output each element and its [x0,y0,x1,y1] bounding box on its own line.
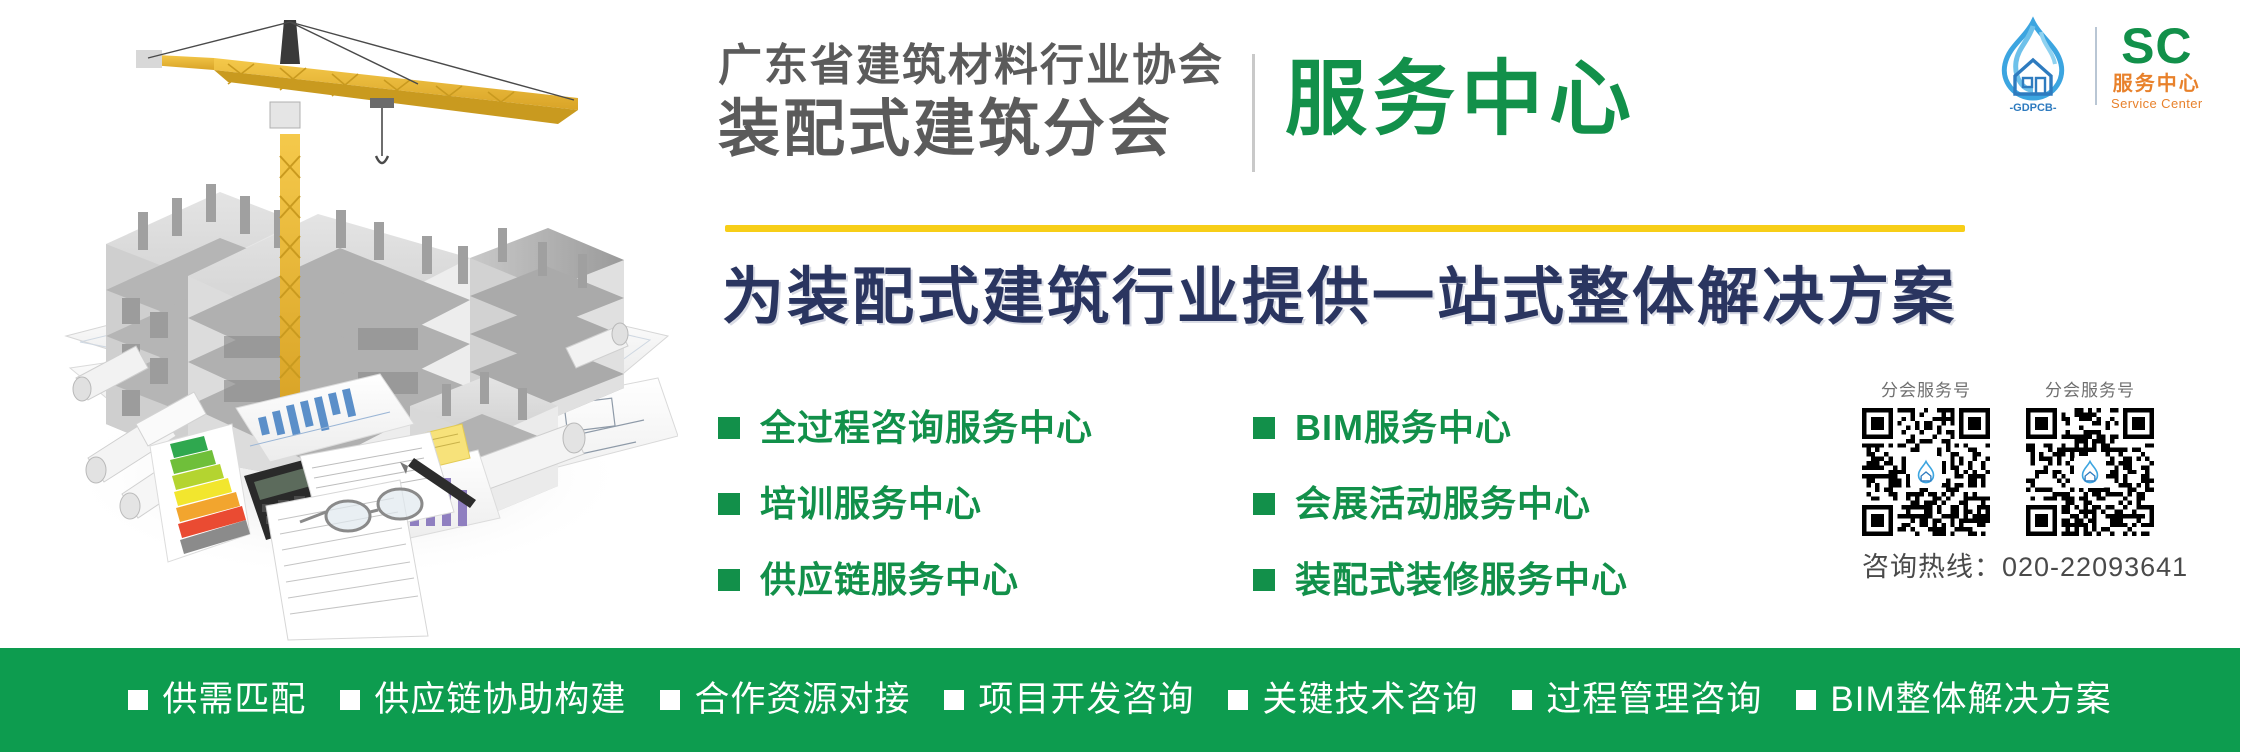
bottom-bar-item[interactable]: 合作资源对接 [660,680,910,720]
service-label: 装配式装修服务中心 [1295,560,1628,600]
square-bullet-icon [1253,569,1275,591]
service-label: 会展活动服务中心 [1295,484,1591,524]
bottom-bar-label: 供应链协助构建 [374,680,626,720]
square-bullet-icon [718,417,740,439]
qr-code-icon[interactable] [2026,408,2154,536]
qr-caption: 分会服务号 [2045,380,2135,402]
bottom-bar-label: 关键技术咨询 [1262,680,1478,720]
bottom-bar-items: 供需匹配 供应链协助构建 合作资源对接 项目开发咨询 关键技术咨询 过程管理咨询 [128,680,2111,720]
square-bullet-icon [944,690,964,710]
association-name: 广东省建筑材料行业协会 [718,40,1224,92]
construction-scene-image [18,6,678,642]
list-item[interactable]: 全过程咨询服务中心 [718,408,1093,448]
bottom-bar-label: 供需匹配 [162,680,306,720]
service-label: BIM服务中心 [1295,408,1512,448]
service-list-right: BIM服务中心 会展活动服务中心 装配式装修服务中心 [1253,408,1628,600]
list-item[interactable]: BIM服务中心 [1253,408,1628,448]
service-list-left: 全过程咨询服务中心 培训服务中心 供应链服务中心 [718,408,1093,600]
promotional-banner: 广东省建筑材料行业协会 装配式建筑分会 服务中心 为装配式建筑行业提供一站式整体… [0,0,2246,752]
list-item[interactable]: 装配式装修服务中心 [1253,560,1628,600]
bottom-bar-item[interactable]: 供应链协助构建 [340,680,626,720]
gdpcb-house-flame-icon: -GDPCB- [1985,16,2081,116]
sc-initials: SC [2121,22,2192,70]
square-bullet-icon [1796,690,1816,710]
bottom-bar-item[interactable]: 过程管理咨询 [1512,680,1762,720]
bottom-bar-label: 项目开发咨询 [978,680,1194,720]
qr-cell: 分会服务号 [1862,380,1990,536]
square-bullet-icon [660,690,680,710]
sc-english-label: Service Center [2111,96,2203,111]
qr-code-icon[interactable] [1862,408,1990,536]
qr-center-logo [2074,456,2106,488]
yellow-divider-line [725,225,1965,232]
qr-caption: 分会服务号 [1881,380,1971,402]
organization-names: 广东省建筑材料行业协会 装配式建筑分会 [718,40,1224,166]
tagline: 为装配式建筑行业提供一站式整体解决方案 [722,258,2022,338]
service-label: 培训服务中心 [760,484,982,524]
bottom-bar-item[interactable]: 项目开发咨询 [944,680,1194,720]
square-bullet-icon [1228,690,1248,710]
brand-logo: -GDPCB- SC 服务中心 Service Center [1985,14,2233,118]
bottom-bar-label: 过程管理咨询 [1546,680,1762,720]
square-bullet-icon [128,690,148,710]
square-bullet-icon [340,690,360,710]
bottom-bar-item[interactable]: BIM整体解决方案 [1796,680,2111,720]
branch-name: 装配式建筑分会 [718,94,1224,166]
sc-lockup: SC 服务中心 Service Center [2111,22,2203,111]
qr-contact-block: 分会服务号 分会服务号 [1862,380,2232,584]
service-center-title: 服务中心 [1285,40,1637,160]
square-bullet-icon [718,493,740,515]
qr-cell: 分会服务号 [2026,380,2154,536]
square-bullet-icon [1253,493,1275,515]
hotline-text: 咨询热线：020-22093641 [1862,550,2232,584]
header-title-row: 广东省建筑材料行业协会 装配式建筑分会 服务中心 [718,40,1948,180]
square-bullet-icon [1512,690,1532,710]
qr-center-logo [1910,456,1942,488]
square-bullet-icon [718,569,740,591]
bottom-bar-label: BIM整体解决方案 [1830,680,2111,720]
bottom-bar-item[interactable]: 关键技术咨询 [1228,680,1478,720]
list-item[interactable]: 培训服务中心 [718,484,1093,524]
qr-row: 分会服务号 分会服务号 [1862,380,2232,536]
svg-text:-GDPCB-: -GDPCB- [2009,102,2056,114]
bottom-bar-label: 合作资源对接 [694,680,910,720]
square-bullet-icon [1253,417,1275,439]
service-center-lists: 全过程咨询服务中心 培训服务中心 供应链服务中心 BIM服务中心 会展活动服务中… [718,408,1828,600]
list-item[interactable]: 会展活动服务中心 [1253,484,1628,524]
service-label: 全过程咨询服务中心 [760,408,1093,448]
header-vertical-divider [1252,54,1255,172]
bottom-bar-item[interactable]: 供需匹配 [128,680,306,720]
bottom-service-bar: 供需匹配 供应链协助构建 合作资源对接 项目开发咨询 关键技术咨询 过程管理咨询 [0,648,2240,752]
sc-chinese-label: 服务中心 [2113,73,2201,96]
list-item[interactable]: 供应链服务中心 [718,560,1093,600]
logo-divider [2095,27,2097,105]
service-label: 供应链服务中心 [760,560,1019,600]
